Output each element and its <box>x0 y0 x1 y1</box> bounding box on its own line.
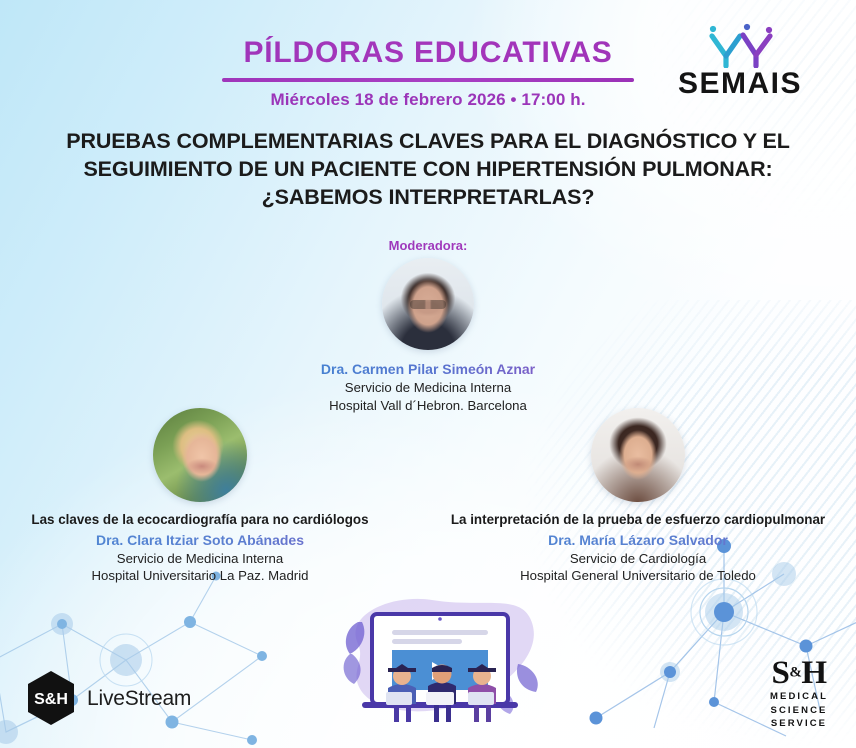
sh-medical-logo: S&H MEDICAL SCIENCE SERVICE <box>770 658 828 730</box>
moderator-card: Dra. Carmen Pilar Simeón Aznar Servicio … <box>278 258 578 414</box>
sh-medical-line-3: SERVICE <box>770 718 828 730</box>
speaker-2-name: Dra. María Lázaro Salvador <box>428 531 848 549</box>
sh-medical-wordmark: S&H <box>770 658 828 689</box>
speaker-1-department: Servicio de Medicina Interna <box>8 550 392 568</box>
moderator-name: Dra. Carmen Pilar Simeón Aznar <box>278 360 578 378</box>
title-divider <box>222 78 634 82</box>
series-kicker: PÍLDORAS EDUCATIVAS <box>0 36 856 69</box>
avatar-speaker-2 <box>591 408 685 502</box>
sh-medical-line-1: MEDICAL <box>770 691 828 703</box>
elearning-illustration <box>322 592 558 724</box>
avatar-moderator <box>382 258 474 350</box>
avatar-speaker-1 <box>153 408 247 502</box>
event-date-time: Miércoles 18 de febrero 2026 • 17:00 h. <box>0 90 856 110</box>
speaker-2-department: Servicio de Cardiología <box>428 550 848 568</box>
speaker-1-talk-title: Las claves de la ecocardiografía para no… <box>8 512 392 529</box>
moderator-department: Servicio de Medicina Interna <box>278 379 578 397</box>
page-title: PRUEBAS COMPLEMENTARIAS CLAVES PARA EL D… <box>50 128 806 212</box>
svg-text:S&H: S&H <box>34 691 68 708</box>
sh-livestream-logo: S&H LiveStream <box>26 670 191 726</box>
livestream-wordmark: LiveStream <box>87 688 191 709</box>
speaker-1-hospital: Hospital Universitario La Paz. Madrid <box>8 567 392 585</box>
speaker-card-1: Las claves de la ecocardiografía para no… <box>8 408 392 585</box>
header-block: PÍLDORAS EDUCATIVAS Miércoles 18 de febr… <box>0 36 856 110</box>
speaker-2-hospital: Hospital General Universitario de Toledo <box>428 567 848 585</box>
speaker-card-2: La interpretación de la prueba de esfuer… <box>428 408 848 585</box>
speaker-2-talk-title: La interpretación de la prueba de esfuer… <box>428 512 848 529</box>
sh-hexagon-icon: S&H <box>26 670 76 726</box>
laptop-students-graphic-icon <box>322 592 558 724</box>
avatar-photo <box>153 408 247 502</box>
sh-medical-line-2: SCIENCE <box>770 705 828 717</box>
webinar-poster: SEMAIS PÍLDORAS EDUCATIVAS Miércoles 18 … <box>0 0 856 748</box>
speaker-1-name: Dra. Clara Itziar Soto Abánades <box>8 531 392 549</box>
avatar-photo <box>591 408 685 502</box>
moderator-label: Moderadora: <box>0 238 856 253</box>
avatar-photo <box>382 258 474 350</box>
